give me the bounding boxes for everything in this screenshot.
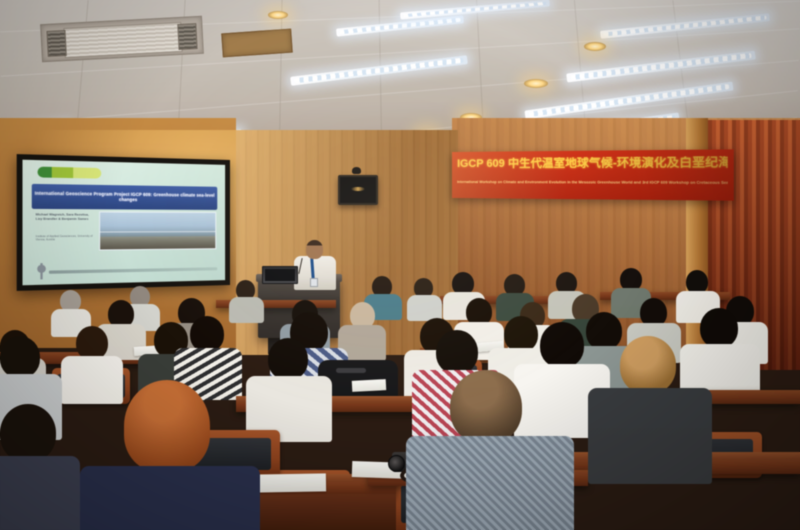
recessed-downlight xyxy=(584,42,606,51)
slide-footer-line xyxy=(49,267,218,274)
projection-screen: International Geoscience Program Project… xyxy=(17,154,230,291)
wall-mounted-display xyxy=(338,175,378,205)
presenter-laptop xyxy=(262,266,298,284)
slide-title-bar: International Geoscience Program Project… xyxy=(31,184,217,210)
igcp-logo-icon xyxy=(38,166,102,178)
presentation-slide: International Geoscience Program Project… xyxy=(22,160,225,286)
presenter-head xyxy=(306,240,323,259)
slide-affiliation: Institute of Applied Geosciences, Univer… xyxy=(36,235,96,242)
ceiling-ac-vent xyxy=(221,29,293,58)
slide-photo xyxy=(99,212,215,251)
red-conference-banner: IGCP 609 中生代温室地球气候-环境演化及白垩纪海平面变化研 Intern… xyxy=(452,149,734,200)
recessed-downlight xyxy=(268,11,288,19)
handout-paper xyxy=(352,379,387,392)
slide-title: International Geoscience Program Project… xyxy=(34,190,216,203)
slide-authors: Michael Wagreich, Sara Rezvitsa, Lizy Br… xyxy=(36,214,91,222)
slide-corner-icon xyxy=(31,263,51,280)
wall-camera-icon xyxy=(352,167,361,174)
handout-paper xyxy=(250,473,326,492)
backpack-strap xyxy=(336,368,366,373)
conference-room-photo: International Geoscience Program Project… xyxy=(0,0,800,530)
recessed-downlight xyxy=(524,79,548,88)
banner-glare xyxy=(452,149,734,200)
presenter-name-badge xyxy=(310,278,318,287)
